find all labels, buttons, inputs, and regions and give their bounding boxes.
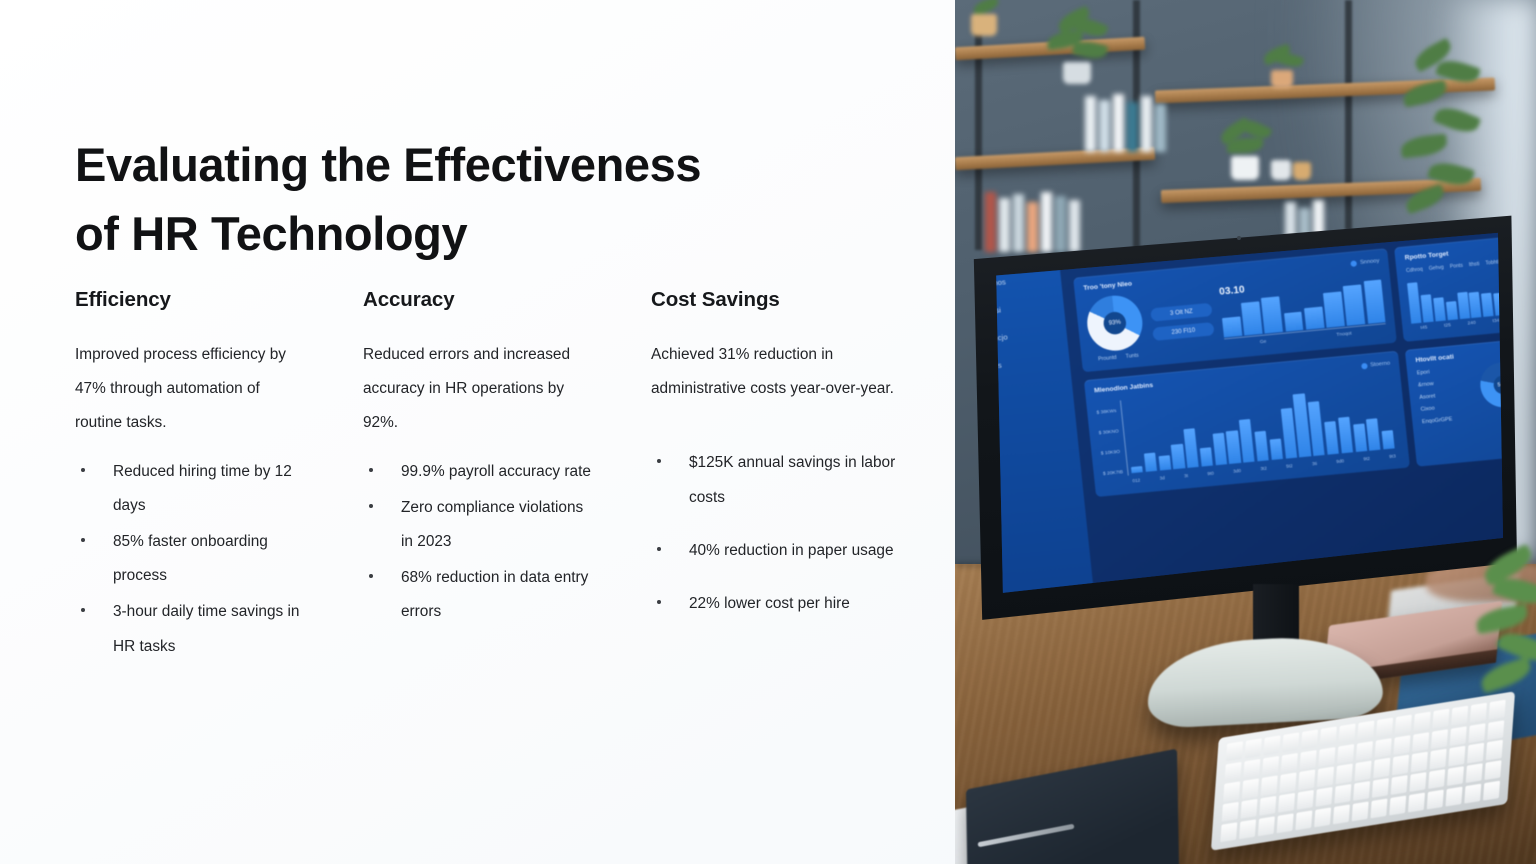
axis-label: 012 <box>1132 477 1140 483</box>
bar <box>1200 447 1213 467</box>
key <box>1356 741 1373 761</box>
bar <box>1144 452 1157 472</box>
bullet-text: Zero compliance violations in 2023 <box>401 499 583 550</box>
potted-plant <box>1035 6 1125 86</box>
kpi-label: ltoqcicsi <box>1282 214 1362 223</box>
leaf <box>1276 50 1304 69</box>
bar <box>1254 430 1268 461</box>
card-action-label: Stoerno <box>1370 360 1391 368</box>
key <box>1373 758 1390 778</box>
slide-root: Evaluating the Effectiveness of HR Techn… <box>0 0 1536 864</box>
key <box>1220 822 1237 842</box>
key <box>1297 790 1314 810</box>
bar <box>1239 419 1255 463</box>
axis-label: Ge <box>1260 340 1267 346</box>
columns-container: Efficiency Improved process efficiency b… <box>75 288 935 666</box>
axis-label: 9t3 <box>1389 453 1396 459</box>
bar <box>1304 307 1324 330</box>
circle-icon <box>965 362 977 374</box>
column-heading-efficiency: Efficiency <box>75 288 305 312</box>
bullet-dot-icon <box>81 468 85 472</box>
card-title: Mlenodlon Jatbins <box>1094 382 1154 395</box>
key <box>1301 729 1318 749</box>
key <box>1370 798 1387 818</box>
leaf <box>1403 184 1447 215</box>
key <box>1295 810 1312 830</box>
circle-icon <box>1361 362 1368 369</box>
key <box>1372 778 1389 798</box>
books-row <box>1085 92 1169 152</box>
bullet-dot-icon <box>369 504 373 508</box>
axis-label: 9t2 <box>1363 456 1370 462</box>
kpi-label: Octuhmci <box>1077 228 1157 242</box>
key <box>1374 738 1391 758</box>
leaf <box>1402 80 1449 108</box>
axis-label: t43 <box>1516 316 1517 322</box>
key <box>1412 732 1429 752</box>
plant-pot <box>1063 62 1091 84</box>
axis-label: t25 <box>1444 323 1451 329</box>
bullet-dot-icon <box>369 468 373 472</box>
key <box>1320 727 1337 747</box>
potted-plant <box>1255 48 1317 98</box>
key <box>1354 761 1371 781</box>
key <box>1336 764 1353 784</box>
key <box>1431 729 1448 749</box>
key <box>1263 735 1280 755</box>
mini-bar-chart: 03.10 <box>1219 273 1387 347</box>
legend-item: Cixoo <box>1420 404 1451 413</box>
card-action-label: Snnooy <box>1360 258 1380 266</box>
key <box>1282 732 1299 752</box>
column-heading-cost-savings: Cost Savings <box>651 288 896 312</box>
key <box>1448 746 1465 766</box>
plant-pot <box>1293 162 1311 180</box>
bar <box>1171 444 1185 469</box>
bar <box>1382 430 1395 450</box>
key <box>1393 735 1410 755</box>
column-intro-efficiency: Improved process efficiency by 47% throu… <box>75 338 305 441</box>
column-intro-cost-savings: Achieved 31% reduction in administrative… <box>651 338 896 406</box>
bullet-text: $125K annual savings in labor costs <box>689 454 895 505</box>
key <box>1276 813 1293 833</box>
column-heading-accuracy: Accuracy <box>363 288 593 312</box>
list-item: 40% reduction in paper usage <box>651 534 896 568</box>
bar <box>1353 424 1367 452</box>
donut-legend-item: Tunts <box>1125 353 1139 360</box>
bar <box>1421 295 1434 323</box>
bar <box>1446 301 1458 321</box>
leaf <box>1433 102 1481 137</box>
circle-icon <box>1351 260 1358 267</box>
key <box>1447 766 1464 786</box>
book <box>1127 102 1138 152</box>
hanging-plant <box>1383 40 1503 240</box>
leaf <box>1227 138 1263 153</box>
book <box>1155 104 1166 152</box>
axis-label: 9t0 <box>1207 471 1214 477</box>
key <box>1315 787 1332 807</box>
kpi-value: 4629 <box>1075 214 1156 232</box>
bullet-dot-icon <box>369 574 373 578</box>
bar <box>1131 466 1143 473</box>
axis-label: 5t2 <box>1286 463 1293 469</box>
list-item: 85% faster onboarding process <box>75 525 305 593</box>
column-intro-accuracy: Reduced errors and increased accuracy in… <box>363 338 593 441</box>
key <box>1432 709 1449 729</box>
key <box>1258 816 1275 836</box>
desktop-monitor: Dashbord Prooolvi › Mrochos <box>957 214 1517 624</box>
bullet-text: 40% reduction in paper usage <box>689 542 894 559</box>
axis-label: 9d0 <box>1336 458 1344 464</box>
bar <box>1324 421 1339 455</box>
key <box>1484 760 1501 780</box>
key <box>1242 779 1259 799</box>
key <box>1357 721 1374 741</box>
bullet-list-cost-savings: $125K annual savings in labor costs 40% … <box>651 446 896 621</box>
card-action[interactable]: Stoerno <box>1361 360 1391 369</box>
pill-button[interactable]: 230 Fl10 <box>1152 322 1214 341</box>
key <box>1259 796 1276 816</box>
bar <box>1158 455 1171 470</box>
bar <box>1269 439 1282 460</box>
key <box>1465 763 1482 783</box>
bullet-list-efficiency: Reduced hiring time by 12 days 85% faste… <box>75 455 305 664</box>
y-tick-label: $ 30KNO <box>1098 429 1119 436</box>
bar <box>1261 296 1283 333</box>
kpi-label: bicovvne <box>1180 219 1260 233</box>
axis-label: 3d <box>1159 475 1165 481</box>
bar <box>1323 291 1345 328</box>
key <box>1279 773 1296 793</box>
bullet-dot-icon <box>81 608 85 612</box>
pill-buttons: 3 Olt NZ 230 Fl10 <box>1150 303 1214 341</box>
legend-item: EnqoGrGPE <box>1422 416 1453 425</box>
axis-label: t45 <box>1420 325 1427 331</box>
y-tick-label: $ 38KWs <box>1096 409 1116 416</box>
list-item: Reduced hiring time by 12 days <box>75 455 305 523</box>
key <box>1376 718 1393 738</box>
series-label: Cdhroq <box>1406 266 1423 274</box>
page-title: Evaluating the Effectiveness of HR Techn… <box>75 131 875 267</box>
axis-label: t34 <box>1492 319 1499 325</box>
bullet-dot-icon <box>657 600 661 604</box>
book <box>1141 96 1152 152</box>
key <box>1239 819 1256 839</box>
key <box>1464 783 1481 803</box>
bullet-text: 85% faster onboarding process <box>113 533 268 584</box>
leaf <box>1478 657 1534 694</box>
axis-label: Tnoqot <box>1336 331 1352 338</box>
office-photo: Dashbord Prooolvi › Mrochos <box>955 0 1536 864</box>
key <box>1392 755 1409 775</box>
key <box>1226 741 1243 761</box>
key <box>1487 720 1504 740</box>
key <box>1337 744 1354 764</box>
card-action[interactable]: Snnooy <box>1351 258 1380 267</box>
bullet-list-accuracy: 99.9% payroll accuracy rate Zero complia… <box>363 455 593 630</box>
dashboard-brand: Dashbord <box>957 214 1005 221</box>
key <box>1413 712 1430 732</box>
column-cost-savings: Cost Savings Achieved 31% reduction in a… <box>651 288 896 666</box>
plant-pot <box>1271 160 1291 180</box>
bar <box>1308 401 1325 456</box>
key <box>1338 724 1355 744</box>
key <box>1449 726 1466 746</box>
bar <box>1366 418 1381 450</box>
bar <box>1338 417 1353 454</box>
pill-button[interactable]: 3 Olt NZ <box>1150 303 1212 322</box>
y-tick-label: $ 20K7IB <box>1103 470 1124 477</box>
circle-icon <box>957 280 969 292</box>
legend-item: Asoret <box>1419 392 1450 401</box>
series-label: Ponts <box>1450 263 1464 270</box>
leaf <box>1474 604 1529 635</box>
key <box>1240 799 1257 819</box>
bar <box>1433 297 1446 321</box>
bar <box>1212 433 1227 465</box>
key <box>1222 802 1239 822</box>
key <box>1298 770 1315 790</box>
key <box>1333 804 1350 824</box>
bullet-dot-icon <box>81 538 85 542</box>
kpi-value: 69.15 <box>1177 214 1258 222</box>
key <box>1351 801 1368 821</box>
bar <box>1222 316 1242 337</box>
bar <box>1184 428 1199 467</box>
bar <box>1284 312 1304 332</box>
circle-icon <box>957 252 966 264</box>
donut-center-label: 93% <box>1085 293 1146 353</box>
key <box>1243 759 1260 779</box>
key <box>1225 761 1242 781</box>
bullet-text: 3-hour daily time savings in HR tasks <box>113 603 299 654</box>
bar <box>1363 279 1386 324</box>
donut-chart: 93% <box>1085 293 1146 353</box>
axis-label: 3d0 <box>1233 468 1241 474</box>
key <box>1353 781 1370 801</box>
bullet-text: 68% reduction in data entry errors <box>401 569 588 620</box>
bullet-text: Reduced hiring time by 12 days <box>113 463 292 514</box>
webcam-icon <box>1237 236 1241 240</box>
key <box>1281 753 1298 773</box>
axis-label: 3ti <box>1312 461 1317 467</box>
key <box>1485 740 1502 760</box>
key <box>1317 767 1334 787</box>
column-accuracy: Accuracy Reduced errors and increased ac… <box>363 288 593 666</box>
bar <box>1481 293 1494 317</box>
key <box>1245 738 1262 758</box>
potted-plant <box>963 0 1023 46</box>
legend-item: Epori <box>1417 368 1448 377</box>
list-item: 3-hour daily time savings in HR tasks <box>75 595 305 663</box>
circle-icon <box>962 334 974 346</box>
bullet-dot-icon <box>657 547 661 551</box>
axis-label: 3t <box>1184 473 1188 478</box>
key <box>1445 786 1462 806</box>
key <box>1410 752 1427 772</box>
card-donut-bars[interactable]: Troo 'tony Nleo Snnooy 93 <box>1073 248 1397 372</box>
sidebar-item-4[interactable]: futes <box>957 345 1071 384</box>
key <box>1426 789 1443 809</box>
potted-plant <box>1265 148 1315 194</box>
book <box>1113 94 1124 152</box>
card-title: Htovllt ocati <box>1415 354 1454 365</box>
bar <box>1343 285 1365 326</box>
circle-icon <box>959 307 971 319</box>
bullet-dot-icon <box>657 459 661 463</box>
key <box>1299 750 1316 770</box>
axis-label: 240 <box>1467 321 1476 327</box>
key <box>1389 795 1406 815</box>
bullet-text: 99.9% payroll accuracy rate <box>401 463 591 480</box>
key <box>1468 723 1485 743</box>
legend-left: Epori &rnow Asoret Cixoo EnqoGrGPE <box>1417 368 1453 426</box>
key <box>1483 780 1500 800</box>
bullet-text: 22% lower cost per hire <box>689 595 850 612</box>
key <box>1278 793 1295 813</box>
key <box>1409 772 1426 792</box>
y-tick-label: $ 10K9O <box>1101 450 1121 457</box>
legend-item: &rnow <box>1418 380 1449 389</box>
list-item: 99.9% payroll accuracy rate <box>363 455 593 489</box>
bar <box>1241 302 1262 336</box>
key <box>1261 776 1278 796</box>
column-efficiency: Efficiency Improved process efficiency b… <box>75 288 305 666</box>
slide-content: Evaluating the Effectiveness of HR Techn… <box>0 0 955 864</box>
key <box>1428 769 1445 789</box>
card-title: Troo 'tony Nleo <box>1083 281 1132 293</box>
plant-pot <box>971 14 997 36</box>
list-item: 22% lower cost per hire <box>651 587 896 621</box>
card-title: Rpotto Torget <box>1404 251 1449 262</box>
key <box>1223 782 1240 802</box>
key <box>1334 784 1351 804</box>
key <box>1395 715 1412 735</box>
list-item: 68% reduction in data entry errors <box>363 561 593 629</box>
bar <box>1407 283 1421 324</box>
key <box>1467 743 1484 763</box>
bar <box>1226 430 1241 464</box>
key <box>1262 756 1279 776</box>
bar <box>1457 292 1470 319</box>
list-item: Zero compliance violations in 2023 <box>363 491 593 559</box>
series-label: Gehvg <box>1429 264 1445 272</box>
card-big-bar-chart[interactable]: Mlenodlon Jatbins Stoerno $ 38KWs <box>1084 351 1410 497</box>
axis-label: 3t2 <box>1260 466 1267 472</box>
key <box>1408 792 1425 812</box>
plant-pot <box>1271 70 1293 88</box>
status-badge: Stoq <box>1488 214 1512 215</box>
key <box>1429 749 1446 769</box>
key <box>1314 807 1331 827</box>
book <box>1099 100 1110 152</box>
series-label: lthsti <box>1469 261 1480 268</box>
key <box>1390 775 1407 795</box>
donut-legend-item: Prountd <box>1098 355 1117 363</box>
book <box>1085 96 1096 152</box>
plant-pot <box>1231 156 1259 180</box>
foreground-plant <box>1464 554 1536 714</box>
leaf <box>1400 134 1448 159</box>
key <box>1318 747 1335 767</box>
bar <box>1469 292 1482 318</box>
list-item: $125K annual savings in labor costs <box>651 446 896 514</box>
